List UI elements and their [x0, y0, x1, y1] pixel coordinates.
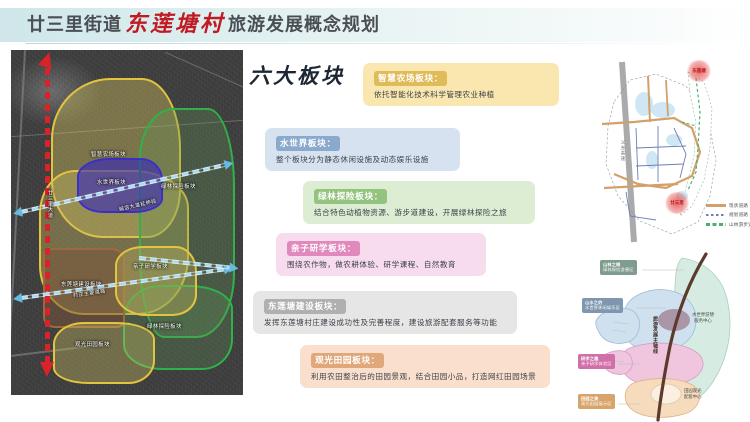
card-green-adventure[interactable]: 绿林探险板块： 结合特色动植物资源、游步道建设，开展绿林探险之旅: [303, 181, 535, 224]
pin-south-label: 廿三里: [670, 200, 684, 206]
page-title: 廿三里街道东莲塘村旅游发展概念规划: [27, 11, 380, 38]
card-desc-smart-farm: 依托智能化技术科学管理农业种植: [374, 89, 549, 100]
callout-mountain-forest[interactable]: 山林之眼 绿林探险游憩区: [600, 260, 637, 275]
map-label-sightseeing-field: 观光田园板块: [75, 340, 110, 348]
inner-label-field-core: 田园观光配套中心: [684, 388, 702, 399]
road-arrow-west: [12, 207, 23, 219]
callout-mountain-water[interactable]: 山水之约 水世界休闲娱乐区: [582, 298, 623, 313]
legend-swatch-dashed: [706, 223, 726, 226]
pin-north[interactable]: 东莲塘: [686, 60, 712, 82]
card-head-parent-child-study: 亲子研学板块：: [287, 241, 360, 257]
legend-label-planned-road: 规划道路: [729, 212, 748, 218]
card-smart-farm[interactable]: 智慧农场板块： 依托智能化技术科学管理农业种植: [363, 63, 559, 106]
pin-north-label: 东莲塘: [692, 68, 706, 74]
card-head-green-adventure: 绿林探险板块：: [314, 189, 387, 205]
map-label-parent-child: 亲子研学板块: [133, 262, 168, 270]
water-body-3: [646, 151, 658, 169]
route-label: 廿三里大道: [47, 190, 54, 218]
map-label-green-adventure: 绿林探险板块: [161, 182, 196, 190]
road-arrow-east: [229, 263, 239, 274]
expressway-label: 义东高速: [620, 140, 626, 162]
satellite-zoning-map[interactable]: 智慧农场板块 水世界板块 绿林探险板块 亲子研学板块 东莲塘建设板块 绿林探险板…: [11, 50, 243, 395]
section-title-six-blocks: 六大板块: [249, 60, 345, 90]
map-label-water-world: 水世界板块: [97, 178, 126, 186]
card-water-world[interactable]: 水世界板块： 整个板块分为静态休闲设施及动态娱乐设施: [265, 128, 460, 171]
legend-swatch-solid: [706, 204, 726, 207]
spine-label: 旅游发展主轴线: [652, 316, 659, 354]
callout-idyllic-field[interactable]: 田园之美 观光田园展示区: [578, 394, 615, 409]
callout-sub-study-tour: 亲子研学体验区: [581, 361, 612, 366]
card-head-village-construction: 东莲塘建设板块：: [264, 299, 346, 315]
card-desc-parent-child-study: 围绕农作物，做农耕体验、研学课程、自然教育: [287, 259, 476, 270]
water-body-2: [651, 102, 675, 118]
map-label-green-adventure-2: 绿林探险板块: [147, 322, 182, 330]
callout-sub-mountain-forest: 绿林探险游憩区: [603, 267, 634, 272]
legend-label-mountain-trail: 山林游步道: [729, 222, 750, 228]
card-desc-water-world: 整个板块分为静态休闲设施及动态娱乐设施: [276, 154, 450, 165]
slide-root: 廿三里街道东莲塘村旅游发展概念规划 智慧农场板块 水世界板块 绿林探险板块 亲子…: [0, 0, 750, 422]
title-prefix: 廿三里街道: [27, 14, 122, 34]
callout-study-tour[interactable]: 研学之趣 亲子研学体验区: [578, 354, 615, 369]
map-legend: 现状道路 规划道路 山林游步道: [706, 202, 750, 231]
card-desc-green-adventure: 结合特色动植物资源、游步道建设，开展绿林探险之旅: [314, 207, 525, 218]
legend-item-existing-road: 现状道路: [706, 202, 750, 209]
legend-swatch-dotted: [706, 214, 726, 217]
road-arrow-west: [12, 293, 22, 304]
card-head-sightseeing-field: 观光田园板块：: [311, 353, 384, 369]
zone-sightseeing-field[interactable]: [53, 322, 155, 384]
legend-label-existing-road: 现状道路: [729, 203, 748, 209]
card-head-smart-farm: 智慧农场板块：: [374, 71, 447, 87]
primary-access-route: [42, 54, 54, 384]
callout-sub-idyllic-field: 观光田园展示区: [581, 401, 612, 406]
road-arrow-east: [224, 158, 235, 170]
card-desc-village-construction: 发挥东莲塘村庄建设成功性及完善程度，建设旅游配套服务等功能: [264, 317, 507, 328]
pin-south[interactable]: 廿三里: [664, 192, 690, 214]
title-accent: 东莲塘村: [122, 11, 228, 37]
route-arrow-south: [40, 362, 54, 377]
legend-item-mountain-trail: 山林游步道: [706, 221, 750, 228]
title-divider: [26, 43, 726, 44]
card-desc-sightseeing-field: 利用农田整治后的田园景观，结合田园小品，打造网红田园场景: [311, 371, 540, 382]
inner-label-water-core: 水世界游憩服务中心: [692, 312, 714, 323]
region-water-west: [596, 308, 640, 343]
concept-zoning-diagram[interactable]: 山林之眼 绿林探险游憩区 山水之约 水世界休闲娱乐区 研学之趣 亲子研学体验区 …: [578, 252, 750, 422]
core-field: [651, 384, 681, 404]
title-suffix: 旅游发展概念规划: [228, 14, 380, 34]
card-sightseeing-field[interactable]: 观光田园板块： 利用农田整治后的田园景观，结合田园小品，打造网红田园场景: [300, 345, 550, 388]
card-head-water-world: 水世界板块：: [276, 136, 340, 152]
regional-road-map[interactable]: 东莲塘 廿三里 现状道路 规划道路 山林游步道 义东高速: [600, 56, 746, 246]
card-parent-child-study[interactable]: 亲子研学板块： 围绕农作物，做农耕体验、研学课程、自然教育: [276, 233, 486, 276]
callout-sub-mountain-water: 水世界休闲娱乐区: [585, 305, 620, 310]
card-village-construction[interactable]: 东莲塘建设板块： 发挥东莲塘村庄建设成功性及完善程度，建设旅游配套服务等功能: [253, 291, 517, 334]
map-label-smart-farm: 智慧农场板块: [91, 150, 126, 158]
legend-item-planned-road: 规划道路: [706, 212, 750, 219]
